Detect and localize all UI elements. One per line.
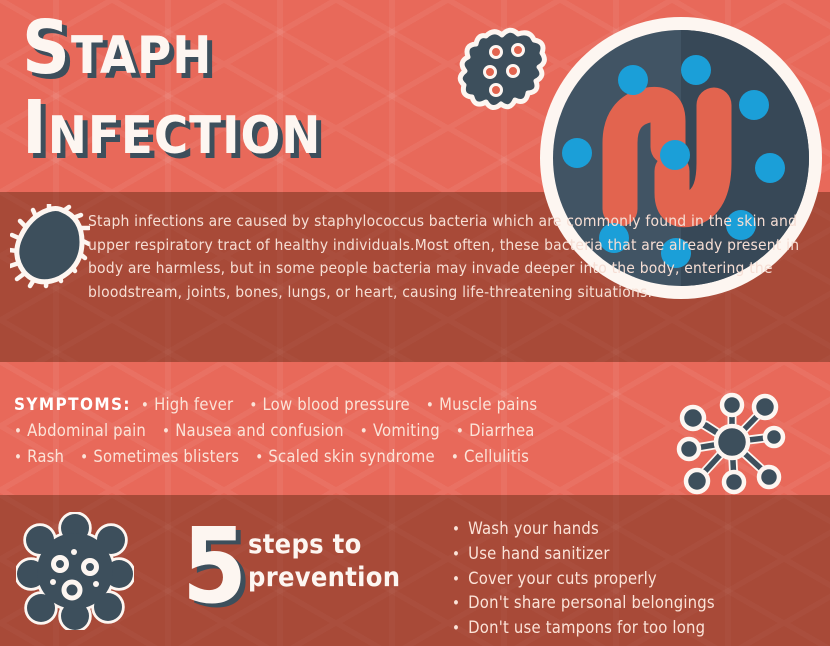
symptom-label: Diarrhea: [469, 421, 535, 440]
symptom-item: •High fever: [141, 392, 233, 418]
prevention-steps-list: •Wash your hands •Use hand sanitizer •Co…: [452, 517, 822, 641]
prevention-step-label: Don't share personal belongings: [468, 593, 715, 612]
bullet-icon: •: [452, 594, 460, 612]
title-line-infection: Infection: [22, 88, 492, 168]
symptom-label: Cellulitis: [464, 447, 529, 466]
symptom-item: •Abdominal pain: [14, 418, 146, 444]
symptom-label: Rash: [27, 447, 64, 466]
symptom-item: •Scaled skin syndrome: [255, 444, 435, 470]
molecule-node-icon: [676, 389, 788, 495]
bullet-icon: •: [141, 396, 149, 414]
symptom-label: High fever: [154, 395, 233, 414]
symptom-item: •Rash: [14, 444, 64, 470]
prevention-heading-line-1: steps to: [248, 528, 400, 561]
prevention-step-label: Use hand sanitizer: [468, 544, 609, 563]
symptoms-row-1: SYMPTOMS:•High fever•Low blood pressure•…: [14, 392, 694, 418]
prevention-number: 5: [182, 514, 247, 618]
bullet-icon: •: [452, 545, 460, 563]
bullet-icon: •: [14, 422, 22, 440]
amoeba-microbe-icon: [456, 26, 548, 114]
page-title: Staph Infection: [22, 8, 492, 168]
prevention-step: •Use hand sanitizer: [452, 542, 822, 567]
symptom-item: •Vomiting: [360, 418, 440, 444]
bullet-icon: •: [80, 448, 88, 466]
symptom-label: Scaled skin syndrome: [268, 447, 434, 466]
bullet-icon: •: [452, 570, 460, 588]
symptom-item: •Low blood pressure: [249, 392, 410, 418]
symptoms-row-2: •Abdominal pain•Nausea and confusion•Vom…: [14, 418, 694, 444]
prevention-step: •Cover your cuts properly: [452, 567, 822, 592]
prevention-step: •Wash your hands: [452, 517, 822, 542]
prevention-heading-line-2: prevention: [248, 561, 400, 594]
symptoms-label: SYMPTOMS:: [14, 392, 131, 418]
symptom-label: Abdominal pain: [27, 421, 146, 440]
symptoms-section: SYMPTOMS:•High fever•Low blood pressure•…: [14, 392, 694, 470]
cell-cluster-icon: [16, 512, 134, 630]
symptom-label: Nausea and confusion: [175, 421, 344, 440]
infographic-poster: Staph Infection: [0, 0, 830, 646]
symptom-label: Vomiting: [373, 421, 440, 440]
bullet-icon: •: [452, 520, 460, 538]
prevention-step-label: Wash your hands: [468, 519, 599, 538]
bacillus-bacterium-icon: [10, 204, 90, 290]
bullet-icon: •: [451, 448, 459, 466]
symptom-item: •Nausea and confusion: [162, 418, 344, 444]
intro-paragraph: Staph infections are caused by staphyloc…: [88, 210, 818, 304]
prevention-step: •Don't use tampons for too long: [452, 616, 822, 641]
symptom-item: •Cellulitis: [451, 444, 529, 470]
title-line-staph: Staph: [22, 8, 492, 88]
symptom-item: •Sometimes blisters: [80, 444, 239, 470]
symptom-label: Sometimes blisters: [93, 447, 239, 466]
symptom-item: •Diarrhea: [456, 418, 535, 444]
symptoms-row-3: •Rash•Sometimes blisters•Scaled skin syn…: [14, 444, 694, 470]
bullet-icon: •: [456, 422, 464, 440]
bullet-icon: •: [452, 619, 460, 637]
bullet-icon: •: [162, 422, 170, 440]
prevention-heading: steps to prevention: [248, 528, 400, 594]
symptom-label: Low blood pressure: [262, 395, 409, 414]
prevention-step: •Don't share personal belongings: [452, 591, 822, 616]
prevention-step-label: Don't use tampons for too long: [468, 618, 705, 637]
prevention-step-label: Cover your cuts properly: [468, 569, 657, 588]
bullet-icon: •: [249, 396, 257, 414]
bullet-icon: •: [14, 448, 22, 466]
symptom-item: •Muscle pains: [426, 392, 537, 418]
bullet-icon: •: [426, 396, 434, 414]
symptom-label: Muscle pains: [439, 395, 537, 414]
bullet-icon: •: [255, 448, 263, 466]
bullet-icon: •: [360, 422, 368, 440]
